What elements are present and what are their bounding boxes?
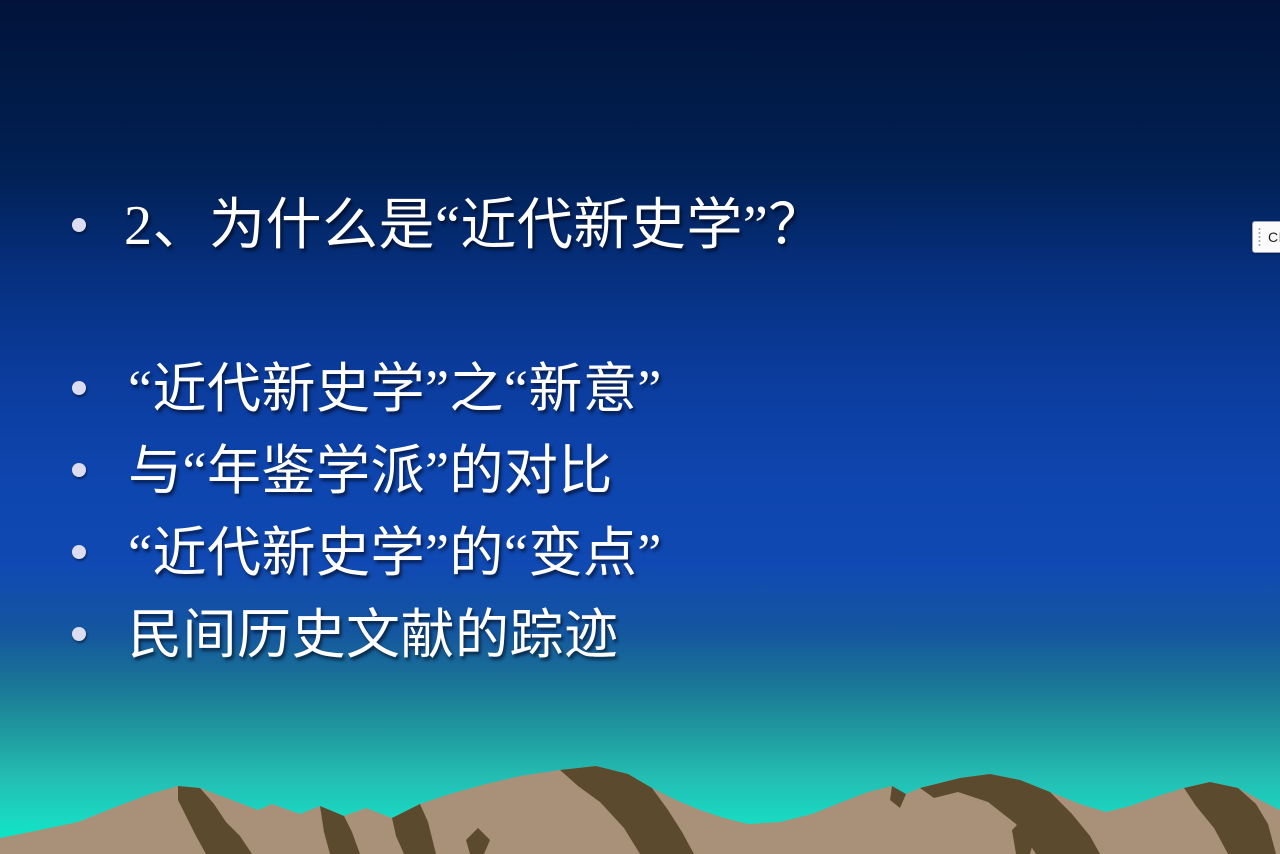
bullet-point-icon bbox=[72, 627, 86, 641]
bullet-text: “近代新史学”的“变点” bbox=[128, 526, 662, 580]
bullet-text: 与“年鉴学派”的对比 bbox=[128, 444, 613, 498]
bullet-point-icon bbox=[72, 218, 86, 232]
bullet-line[interactable]: “近代新史学”之“新意” bbox=[72, 362, 662, 416]
ime-language-label: CH bbox=[1268, 229, 1280, 245]
bullet-text: 2、为什么是“近代新史学”？ bbox=[124, 198, 825, 254]
bullet-text: “近代新史学”之“新意” bbox=[128, 362, 662, 416]
presentation-slide: 2、为什么是“近代新史学”？ “近代新史学”之“新意” 与“年鉴学派”的对比 “… bbox=[0, 0, 1280, 854]
bullet-line[interactable]: 民间历史文献的踪迹 bbox=[72, 608, 619, 662]
bullet-line[interactable]: 2、为什么是“近代新史学”？ bbox=[72, 198, 825, 254]
mountain-range-graphic bbox=[0, 744, 1280, 854]
bullet-text: 民间历史文献的踪迹 bbox=[128, 608, 619, 662]
bullet-point-icon bbox=[72, 381, 86, 395]
bullet-line[interactable]: 与“年鉴学派”的对比 bbox=[72, 444, 613, 498]
bullet-point-icon bbox=[72, 545, 86, 559]
drag-grip-icon[interactable] bbox=[1256, 227, 1263, 247]
ime-language-bar[interactable]: CH bbox=[1252, 221, 1280, 253]
bullet-line[interactable]: “近代新史学”的“变点” bbox=[72, 526, 662, 580]
bullet-point-icon bbox=[72, 463, 86, 477]
slide-content-body: 2、为什么是“近代新史学”？ “近代新史学”之“新意” 与“年鉴学派”的对比 “… bbox=[0, 0, 1280, 854]
